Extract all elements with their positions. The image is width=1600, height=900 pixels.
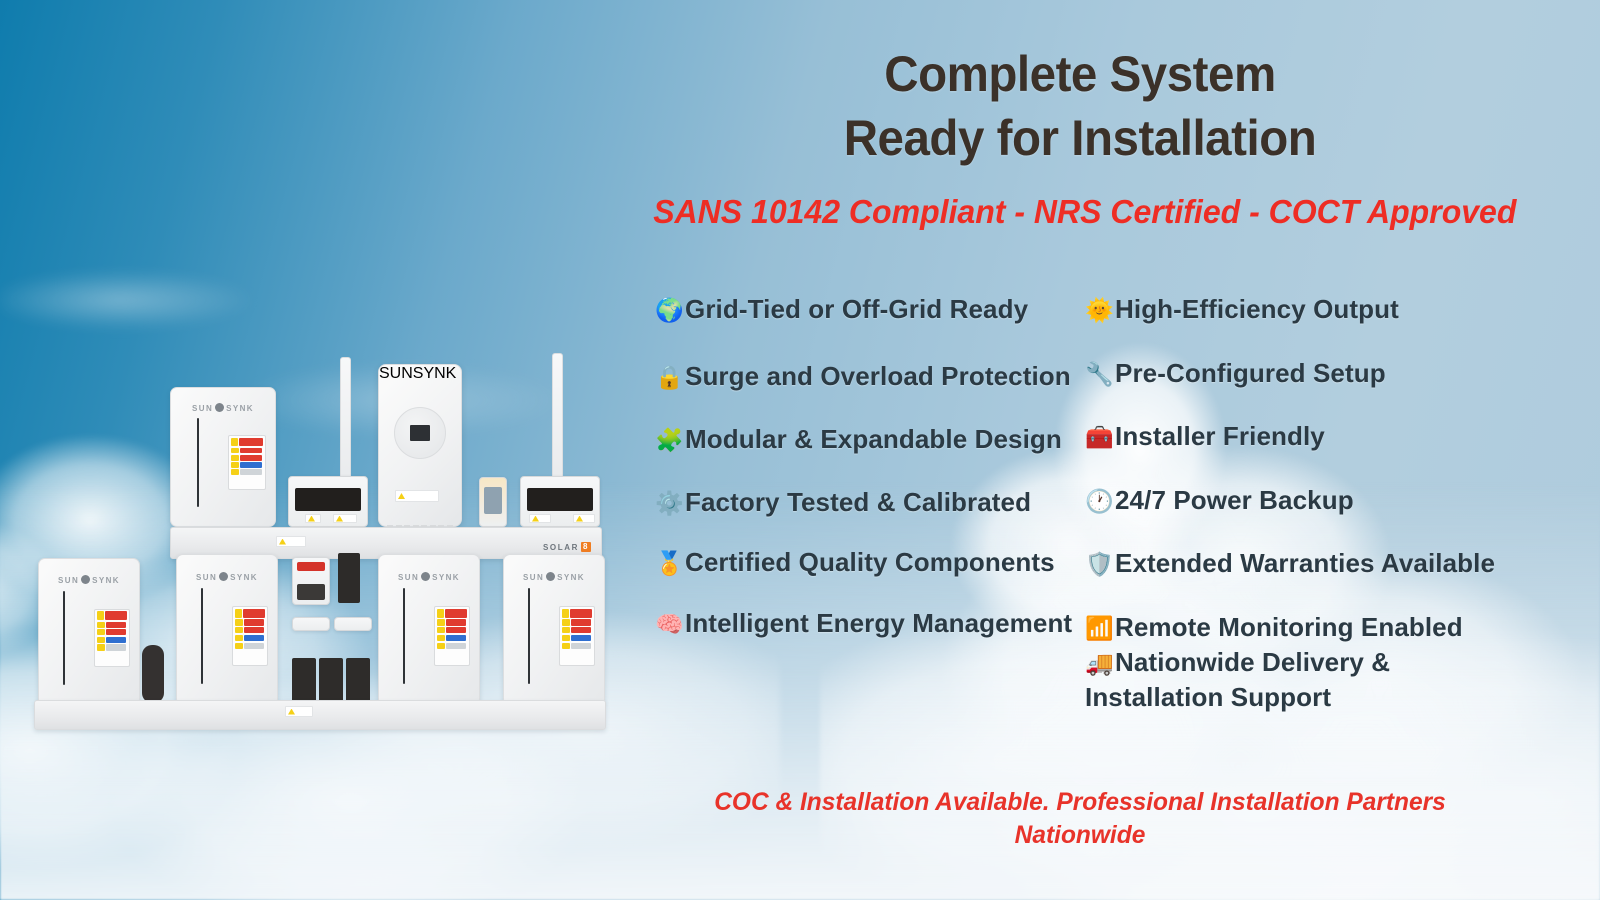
lock-icon: 🔒 <box>655 367 685 390</box>
panel-label-red <box>297 562 325 571</box>
sunsynk-logo: SUNSYNK <box>177 572 277 582</box>
busbar-right <box>334 617 372 631</box>
globe-icon: 🌍 <box>655 300 685 323</box>
battery-unit-3: SUNSYNK <box>378 554 480 706</box>
handle-accessory <box>142 645 164 703</box>
feature-label: High-Efficiency Output <box>1115 294 1399 324</box>
battery-unit-top: SUNSYNK <box>170 387 276 527</box>
warning-label <box>559 606 595 666</box>
feature-item: 🌞High-Efficiency Output <box>1085 292 1515 327</box>
sun-icon: 🌞 <box>1085 300 1115 323</box>
warning-tag <box>395 490 439 502</box>
control-panel <box>292 557 330 605</box>
feature-label: 24/7 Power Backup <box>1115 485 1354 515</box>
puzzle-icon: 🧩 <box>655 430 685 453</box>
inverter-display <box>394 407 446 459</box>
panel-label-dark <box>297 584 325 600</box>
db-box-top-mid <box>479 477 507 527</box>
headline-line-2: Ready for Installation <box>662 106 1498 170</box>
breaker-unit-2 <box>319 658 343 702</box>
feature-item: 📶Remote Monitoring Enabled <box>1085 610 1515 645</box>
sunsynk-logo: SUNSYNK <box>379 365 461 383</box>
feature-column-left: 🌍Grid-Tied or Off-Grid Ready 🔒Surge and … <box>655 292 1085 762</box>
sunsynk-logo: SUNSYNK <box>39 575 139 585</box>
feature-item: 🧠Intelligent Energy Management <box>655 606 1075 641</box>
warning-tag <box>285 706 313 717</box>
base-shelf <box>34 700 606 730</box>
feature-item: 🔧Pre-Configured Setup <box>1085 356 1515 391</box>
feature-label: Intelligent Energy Management <box>685 608 1072 638</box>
feature-column-right: 🌞High-Efficiency Output 🔧Pre-Configured … <box>1085 292 1515 762</box>
chart-icon: 📶 <box>1085 618 1115 641</box>
headline-line-1: Complete System <box>662 42 1498 106</box>
feature-label: Certified Quality Components <box>685 547 1055 577</box>
unit-strip <box>197 418 199 506</box>
warning-tag <box>333 514 357 523</box>
feature-item: 🌍Grid-Tied or Off-Grid Ready <box>655 292 1075 327</box>
brain-icon: 🧠 <box>655 614 685 637</box>
warning-tag <box>276 536 306 547</box>
feature-item: 🏅Certified Quality Components <box>655 545 1075 580</box>
warning-label <box>434 606 470 666</box>
db-box-top-right <box>520 476 600 527</box>
medal-icon: 🏅 <box>655 553 685 576</box>
feature-item: 🔒Surge and Overload Protection <box>655 359 1075 394</box>
feature-label: Installer Friendly <box>1115 421 1325 451</box>
feature-item: 🧰Installer Friendly <box>1085 419 1515 454</box>
warning-tag <box>573 514 595 523</box>
warning-label <box>232 606 268 666</box>
feature-label: Nationwide Delivery & Installation Suppo… <box>1085 647 1390 712</box>
battery-unit-2: SUNSYNK <box>176 554 278 706</box>
warning-label <box>94 609 130 667</box>
gear-icon: ⚙️ <box>655 493 685 516</box>
feature-label: Grid-Tied or Off-Grid Ready <box>685 294 1028 324</box>
headline-block: Complete System Ready for Installation S… <box>640 42 1520 232</box>
warning-label <box>228 435 265 490</box>
sunsynk-logo: SUNSYNK <box>504 572 604 582</box>
feature-list: 🌍Grid-Tied or Off-Grid Ready 🔒Surge and … <box>655 292 1535 762</box>
busbar-left <box>292 617 330 631</box>
installation-footer-note: COC & Installation Available. Profession… <box>649 786 1511 852</box>
product-system-photo: SUNSYNK SUNSYNK SOLAR8 <box>30 345 620 735</box>
feature-item: ⚙️Factory Tested & Calibrated <box>655 485 1075 520</box>
breaker-unit-3 <box>346 658 370 702</box>
feature-label: Factory Tested & Calibrated <box>685 487 1031 517</box>
feature-item: 🛡️Extended Warranties Available <box>1085 546 1515 581</box>
sunsynk-logo: SUNSYNK <box>171 403 275 413</box>
feature-label: Modular & Expandable Design <box>685 424 1062 454</box>
clock-icon: 🕐 <box>1085 491 1115 514</box>
unit-strip <box>403 588 405 684</box>
battery-unit-4: SUNSYNK <box>503 554 605 706</box>
feature-label: Extended Warranties Available <box>1115 548 1495 578</box>
db-window <box>484 487 502 515</box>
solar8-brandmark: SOLAR8 <box>543 542 591 552</box>
sunsynk-logo: SUNSYNK <box>379 572 479 582</box>
certification-subheadline: SANS 10142 Compliant - NRS Certified - C… <box>653 192 1507 232</box>
battery-unit-1: SUNSYNK <box>38 558 140 706</box>
feature-item: 🕐24/7 Power Backup <box>1085 483 1515 518</box>
db-window <box>295 488 361 512</box>
feature-item: 🧩Modular & Expandable Design <box>655 422 1075 457</box>
feature-label: Remote Monitoring Enabled <box>1115 612 1463 642</box>
inverter-unit: SUNSYNK <box>378 364 462 527</box>
db-window <box>527 488 593 512</box>
wrench-icon: 🔧 <box>1085 364 1115 387</box>
shield-icon: 🛡️ <box>1085 554 1115 577</box>
warning-tag <box>529 514 551 523</box>
breaker-unit-1 <box>292 658 316 702</box>
unit-strip <box>201 588 203 684</box>
unit-strip <box>63 591 65 684</box>
db-box-top-left <box>288 476 368 527</box>
toolbox-icon: 🧰 <box>1085 427 1115 450</box>
unit-strip <box>528 588 530 684</box>
feature-label: Pre-Configured Setup <box>1115 358 1386 388</box>
breaker-unit-a <box>338 553 360 603</box>
truck-icon: 🚚 <box>1085 653 1115 676</box>
feature-label: Surge and Overload Protection <box>685 361 1071 391</box>
feature-item: 🚚Nationwide Delivery & Installation Supp… <box>1085 645 1515 715</box>
warning-tag <box>305 514 321 523</box>
